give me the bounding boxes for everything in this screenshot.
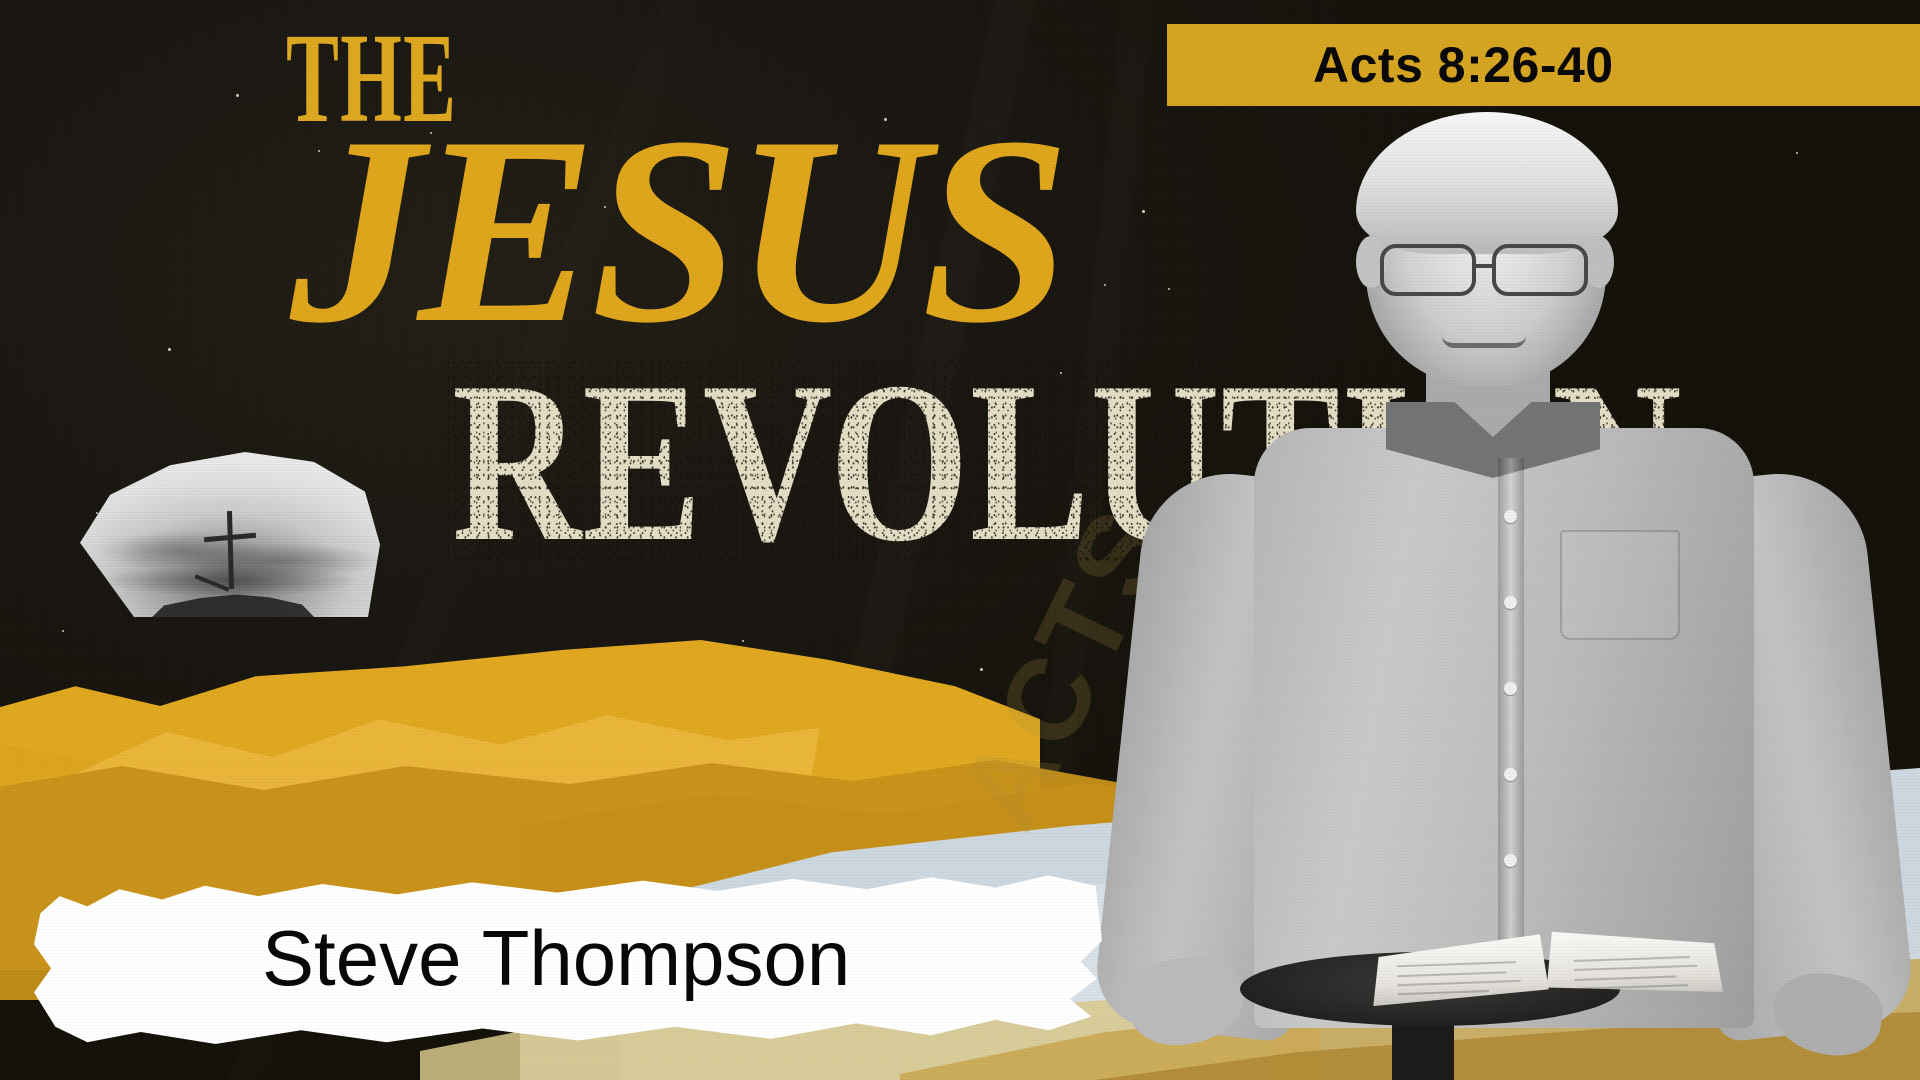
title-word-jesus: JESUS <box>290 112 1064 348</box>
shirt-button <box>1504 854 1517 867</box>
book-page-right <box>1545 926 1723 998</box>
speaker-ear-right <box>1584 236 1614 288</box>
shirt-button <box>1504 768 1517 781</box>
eyeglasses-icon <box>1380 244 1476 296</box>
eyeglasses-right-lens-icon <box>1492 244 1588 296</box>
book-text-lines <box>1371 934 1549 1006</box>
shirt-pocket <box>1560 530 1680 640</box>
scripture-reference-text: Acts 8:26-40 <box>1313 36 1614 94</box>
book-text-lines <box>1545 926 1723 998</box>
open-book-icon <box>1371 922 1723 1010</box>
series-title-lockup: THE JESUS REVOLUTION <box>0 0 1300 680</box>
scripture-reference-badge: Acts 8:26-40 <box>1167 24 1920 106</box>
speaker-hair <box>1356 112 1618 254</box>
shirt-button <box>1504 510 1517 523</box>
shirt-placket <box>1498 458 1524 988</box>
speaker-name-container: Steve Thompson <box>34 872 1102 1044</box>
speaker-name-text: Steve Thompson <box>262 913 850 1004</box>
shirt-button <box>1504 682 1517 695</box>
sermon-title-card: ACTS THE JESUS REVOLUTION <box>0 0 1920 1080</box>
shirt-button <box>1504 596 1517 609</box>
eyeglasses-bridge <box>1476 264 1496 268</box>
book-page-left <box>1371 934 1549 1006</box>
speaker-mouth <box>1442 336 1526 348</box>
